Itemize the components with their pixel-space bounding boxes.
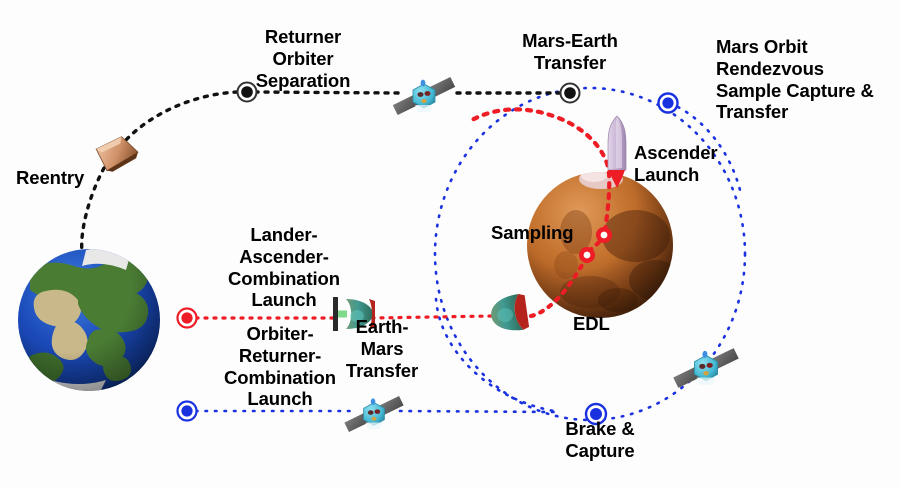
label-brake-and-capture: Brake & Capture <box>540 418 660 462</box>
label-lander-ascender-combination-launch: Lander- Ascender- Combination Launch <box>198 224 370 311</box>
label-sampling: Sampling <box>491 222 601 244</box>
label-mars-earth-transfer: Mars-Earth Transfer <box>505 30 635 74</box>
label-ascender-launch: Ascender Launch <box>634 142 754 186</box>
red-sampling-node[interactable] <box>579 247 595 263</box>
label-earth-mars-transfer: Earth- Mars Transfer <box>336 316 428 381</box>
label-mars-orbit-rendezvous: Mars Orbit Rendezvous Sample Capture & T… <box>716 36 900 123</box>
blue-rendezvous-node[interactable] <box>659 94 678 113</box>
label-returner-orbiter-separation: Returner Orbiter Separation <box>228 26 378 91</box>
black-departure-node[interactable] <box>561 84 580 103</box>
label-edl: EDL <box>573 313 633 335</box>
mission-architecture-diagram: Returner Orbiter Separation Mars-Earth T… <box>0 0 900 489</box>
label-reentry: Reentry <box>16 167 126 189</box>
